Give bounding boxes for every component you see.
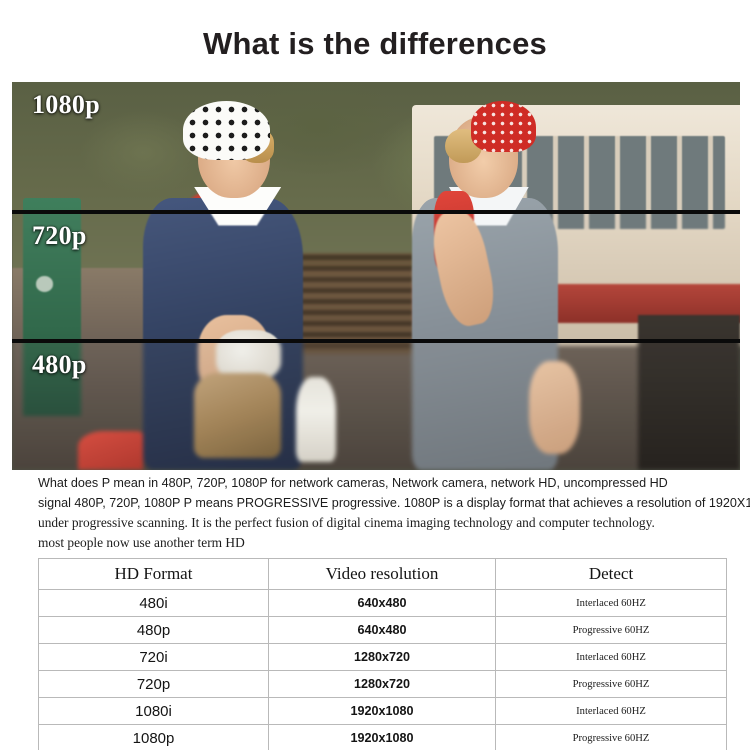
band-label-480p: 480p [32, 350, 87, 380]
hd-format-table: HD Format Video resolution Detect 480i 6… [38, 558, 727, 750]
cell-resolution: 640x480 [269, 590, 496, 617]
table-header-hd-format: HD Format [39, 559, 269, 590]
band-label-720p: 720p [32, 221, 87, 251]
cell-detect: Interlaced 60HZ [496, 698, 727, 725]
cell-format: 720p [39, 671, 269, 698]
table-header-row: HD Format Video resolution Detect [39, 559, 727, 590]
band-divider-bottom [12, 339, 740, 343]
table-header-video-resolution: Video resolution [269, 559, 496, 590]
page-title: What is the differences [0, 26, 750, 62]
cell-detect: Progressive 60HZ [496, 725, 727, 750]
page-root: What is the differences [0, 0, 750, 750]
cell-resolution: 1280x720 [269, 671, 496, 698]
cell-format: 720i [39, 644, 269, 671]
cell-detect: Interlaced 60HZ [496, 644, 727, 671]
table-row: 480p 640x480 Progressive 60HZ [39, 617, 727, 644]
cell-detect: Progressive 60HZ [496, 671, 727, 698]
paragraph-line-3: under progressive scanning. It is the pe… [38, 513, 750, 533]
description-paragraph: What does P mean in 480P, 720P, 1080P fo… [38, 474, 750, 552]
table-row: 720p 1280x720 Progressive 60HZ [39, 671, 727, 698]
table-row: 720i 1280x720 Interlaced 60HZ [39, 644, 727, 671]
band-label-1080p: 1080p [32, 90, 100, 120]
cell-detect: Progressive 60HZ [496, 617, 727, 644]
cell-resolution: 1920x1080 [269, 698, 496, 725]
cell-detect: Interlaced 60HZ [496, 590, 727, 617]
table-row: 480i 640x480 Interlaced 60HZ [39, 590, 727, 617]
cell-resolution: 1920x1080 [269, 725, 496, 750]
cell-format: 1080i [39, 698, 269, 725]
resolution-comparison-photo: 1080p 720p 480p [12, 82, 740, 470]
cell-resolution: 640x480 [269, 617, 496, 644]
paragraph-line-2: signal 480P, 720P, 1080P P means PROGRES… [38, 494, 750, 514]
paragraph-line-4: most people now use another term HD [38, 533, 750, 553]
table-header-detect: Detect [496, 559, 727, 590]
cell-resolution: 1280x720 [269, 644, 496, 671]
photo-band-1080p [12, 82, 740, 212]
cell-format: 480i [39, 590, 269, 617]
cell-format: 480p [39, 617, 269, 644]
photo-band-480p [12, 340, 740, 470]
cell-format: 1080p [39, 725, 269, 750]
paragraph-line-1: What does P mean in 480P, 720P, 1080P fo… [38, 474, 750, 494]
photo-band-720p [12, 212, 740, 340]
table-row: 1080p 1920x1080 Progressive 60HZ [39, 725, 727, 750]
table-row: 1080i 1920x1080 Interlaced 60HZ [39, 698, 727, 725]
band-divider-top [12, 210, 740, 214]
